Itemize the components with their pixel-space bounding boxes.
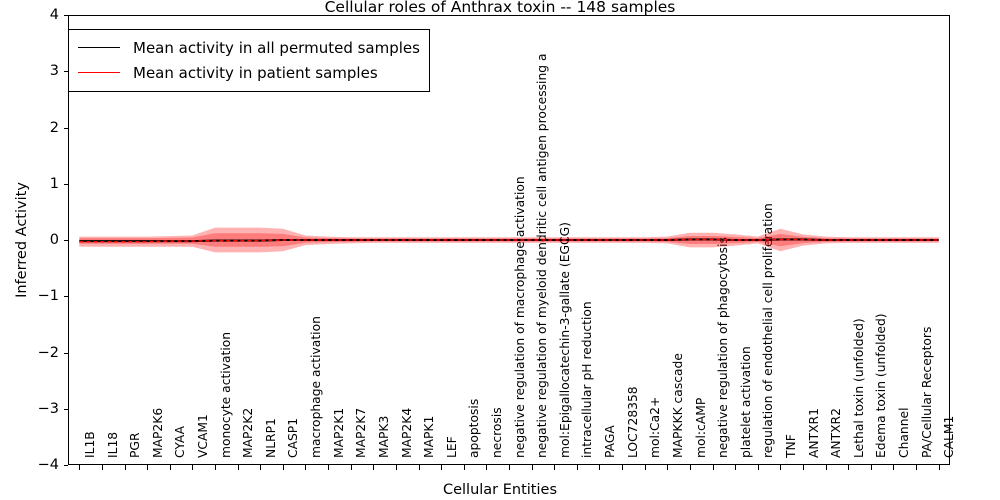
y-tick-label: −1 <box>0 288 59 304</box>
x-tick-mark <box>125 465 126 470</box>
y-tick-label: 1 <box>0 176 59 192</box>
chart-title: Cellular roles of Anthrax toxin -- 148 s… <box>0 0 1000 16</box>
x-tick-mark <box>599 465 600 470</box>
x-axis-label: Cellular Entities <box>0 482 1000 498</box>
chart-root: Cellular roles of Anthrax toxin -- 148 s… <box>0 0 1000 500</box>
x-tick-mark <box>780 465 781 470</box>
x-tick-mark <box>283 465 284 470</box>
y-tick-label: 2 <box>0 120 59 136</box>
x-tick-mark <box>803 465 804 470</box>
x-tick-mark <box>328 465 329 470</box>
x-tick-mark <box>305 465 306 470</box>
x-tick-mark <box>464 465 465 470</box>
x-tick-mark <box>79 465 80 470</box>
x-tick-mark <box>260 465 261 470</box>
x-tick-mark <box>893 465 894 470</box>
x-tick-mark <box>871 465 872 470</box>
x-tick-mark <box>577 465 578 470</box>
x-tick-mark <box>916 465 917 470</box>
x-tick-mark <box>351 465 352 470</box>
x-tick-mark <box>486 465 487 470</box>
legend-item-patient: Mean activity in patient samples <box>78 60 420 85</box>
x-tick-mark <box>238 465 239 470</box>
x-tick-mark <box>147 465 148 470</box>
x-tick-mark <box>102 465 103 470</box>
y-tick-label: −3 <box>0 401 59 417</box>
x-tick-mark <box>939 465 940 470</box>
y-tick-label: −4 <box>0 457 59 473</box>
y-tick-mark <box>64 465 69 466</box>
x-tick-mark <box>554 465 555 470</box>
x-tick-mark <box>622 465 623 470</box>
x-tick-mark <box>396 465 397 470</box>
chart-legend: Mean activity in all permuted samples Me… <box>68 29 430 92</box>
x-tick-mark <box>690 465 691 470</box>
y-tick-label: −2 <box>0 345 59 361</box>
x-tick-mark <box>735 465 736 470</box>
legend-label-permuted: Mean activity in all permuted samples <box>133 39 420 57</box>
legend-item-permuted: Mean activity in all permuted samples <box>78 35 420 60</box>
x-tick-mark <box>441 465 442 470</box>
y-tick-label: 0 <box>0 232 59 248</box>
legend-swatch-permuted <box>78 47 120 48</box>
x-tick-mark <box>509 465 510 470</box>
x-tick-mark <box>758 465 759 470</box>
x-tick-mark <box>170 465 171 470</box>
x-tick-mark <box>532 465 533 470</box>
legend-swatch-patient <box>78 72 120 73</box>
y-tick-label: 3 <box>0 63 59 79</box>
x-tick-mark <box>373 465 374 470</box>
x-tick-mark <box>192 465 193 470</box>
x-tick-mark <box>667 465 668 470</box>
x-tick-mark <box>848 465 849 470</box>
x-tick-mark <box>645 465 646 470</box>
x-tick-mark <box>826 465 827 470</box>
x-tick-mark <box>419 465 420 470</box>
x-tick-mark <box>215 465 216 470</box>
y-tick-label: 4 <box>0 7 59 23</box>
legend-label-patient: Mean activity in patient samples <box>133 64 378 82</box>
x-tick-mark <box>713 465 714 470</box>
